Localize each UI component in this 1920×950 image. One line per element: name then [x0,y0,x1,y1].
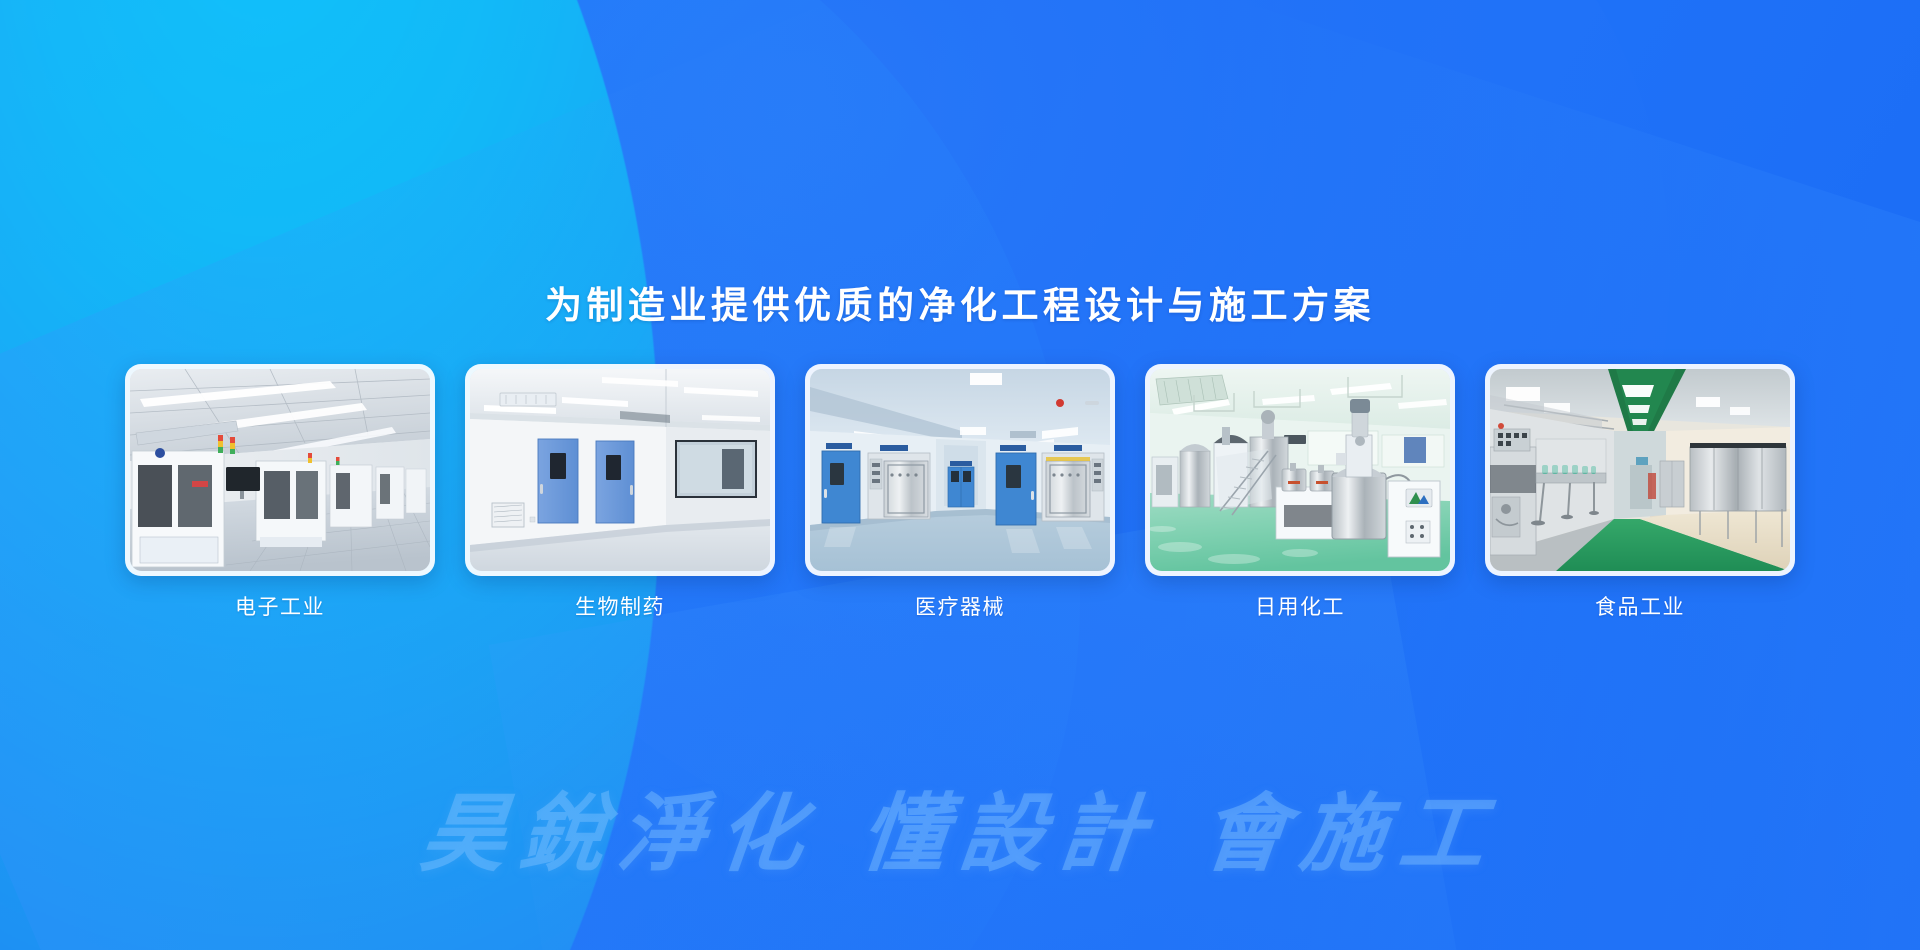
medical-device-cleanroom-photo [810,369,1110,571]
banner-stage: 为制造业提供优质的净化工程设计与施工方案 [0,0,1920,950]
food-industry-photo [1490,369,1790,571]
card-frame [805,364,1115,576]
card-frame [1145,364,1455,576]
biopharma-cleanroom-photo [470,369,770,571]
industry-card-food[interactable]: 食品工业 [1485,364,1795,618]
electronics-cleanroom-photo [130,369,430,571]
card-frame [125,364,435,576]
card-frame [1485,364,1795,576]
industry-card-medical-device[interactable]: 医疗器械 [805,364,1115,618]
industry-card-row: 电子工业 [125,364,1795,618]
card-caption: 日用化工 [1255,597,1345,618]
card-caption: 食品工业 [1595,597,1685,618]
page-title: 为制造业提供优质的净化工程设计与施工方案 [0,283,1920,329]
card-frame [465,364,775,576]
card-caption: 电子工业 [235,597,325,618]
industry-card-biopharma[interactable]: 生物制药 [465,364,775,618]
card-caption: 医疗器械 [915,597,1005,618]
industry-card-electronics[interactable]: 电子工业 [125,364,435,618]
industry-card-daily-chemical[interactable]: 日用化工 [1145,364,1455,618]
card-caption: 生物制药 [575,597,665,618]
daily-chemical-plant-photo [1150,369,1450,571]
